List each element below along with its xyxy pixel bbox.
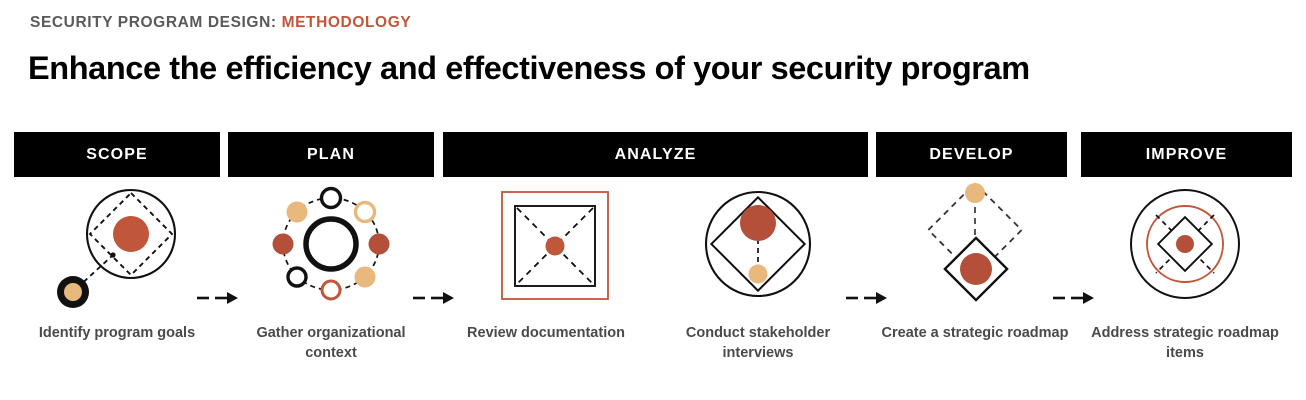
circle-diamond-two-dots-icon xyxy=(688,182,828,312)
step-gather-organizational-context[interactable]: Gather organizational context xyxy=(228,182,434,363)
step-caption: Gather organizational context xyxy=(236,324,426,363)
orbit-dots-ring-icon xyxy=(261,182,401,312)
step-caption: Identify program goals xyxy=(22,324,212,344)
phase-bar-analyze-label: ANALYZE xyxy=(615,146,697,164)
step-identify-program-goals[interactable]: Identify program goals xyxy=(14,182,220,344)
eyebrow-accent: METHODOLOGY xyxy=(282,14,412,31)
circle-diamond-target-icon xyxy=(47,182,187,312)
eyebrow-prefix: SECURITY PROGRAM DESIGN: xyxy=(30,14,277,31)
step-review-documentation[interactable]: Review documentation xyxy=(443,182,649,344)
methodology-infographic: SECURITY PROGRAM DESIGN: METHODOLOGY Enh… xyxy=(0,0,1306,400)
phase-bar-plan[interactable]: PLAN xyxy=(228,132,434,177)
arrow-scope-to-plan xyxy=(196,290,240,306)
phase-bar-row: SCOPE PLAN ANALYZE DEVELOP IMPROVE xyxy=(0,132,1306,177)
step-address-roadmap-items[interactable]: Address strategic roadmap items xyxy=(1082,182,1288,363)
arrow-roadmap-to-improve xyxy=(1052,290,1096,306)
phase-bar-scope[interactable]: SCOPE xyxy=(14,132,220,177)
phase-bar-plan-label: PLAN xyxy=(307,146,355,164)
phase-bar-develop[interactable]: DEVELOP xyxy=(876,132,1067,177)
step-create-strategic-roadmap[interactable]: Create a strategic roadmap xyxy=(872,182,1078,344)
bullseye-diamond-icon xyxy=(1115,182,1255,312)
phase-bar-develop-label: DEVELOP xyxy=(929,146,1013,164)
phase-bar-analyze[interactable]: ANALYZE xyxy=(443,132,868,177)
phase-bar-scope-label: SCOPE xyxy=(86,146,148,164)
phase-bar-improve[interactable]: IMPROVE xyxy=(1081,132,1292,177)
step-column-row: Identify program goals xyxy=(0,182,1306,382)
step-caption: Create a strategic roadmap xyxy=(880,324,1070,344)
arrow-plan-to-review xyxy=(412,290,456,306)
arrow-interviews-to-roadmap xyxy=(845,290,889,306)
page-title: Enhance the efficiency and effectiveness… xyxy=(28,50,1030,87)
phase-bar-improve-label: IMPROVE xyxy=(1146,146,1228,164)
stacked-diamonds-icon xyxy=(905,182,1045,312)
eyebrow-label: SECURITY PROGRAM DESIGN: METHODOLOGY xyxy=(30,14,411,32)
step-conduct-stakeholder-interviews[interactable]: Conduct stakeholder interviews xyxy=(655,182,861,363)
step-caption: Review documentation xyxy=(451,324,641,344)
step-caption: Address strategic roadmap items xyxy=(1090,324,1280,363)
step-caption: Conduct stakeholder interviews xyxy=(663,324,853,363)
framed-square-diagonals-icon xyxy=(476,182,616,312)
